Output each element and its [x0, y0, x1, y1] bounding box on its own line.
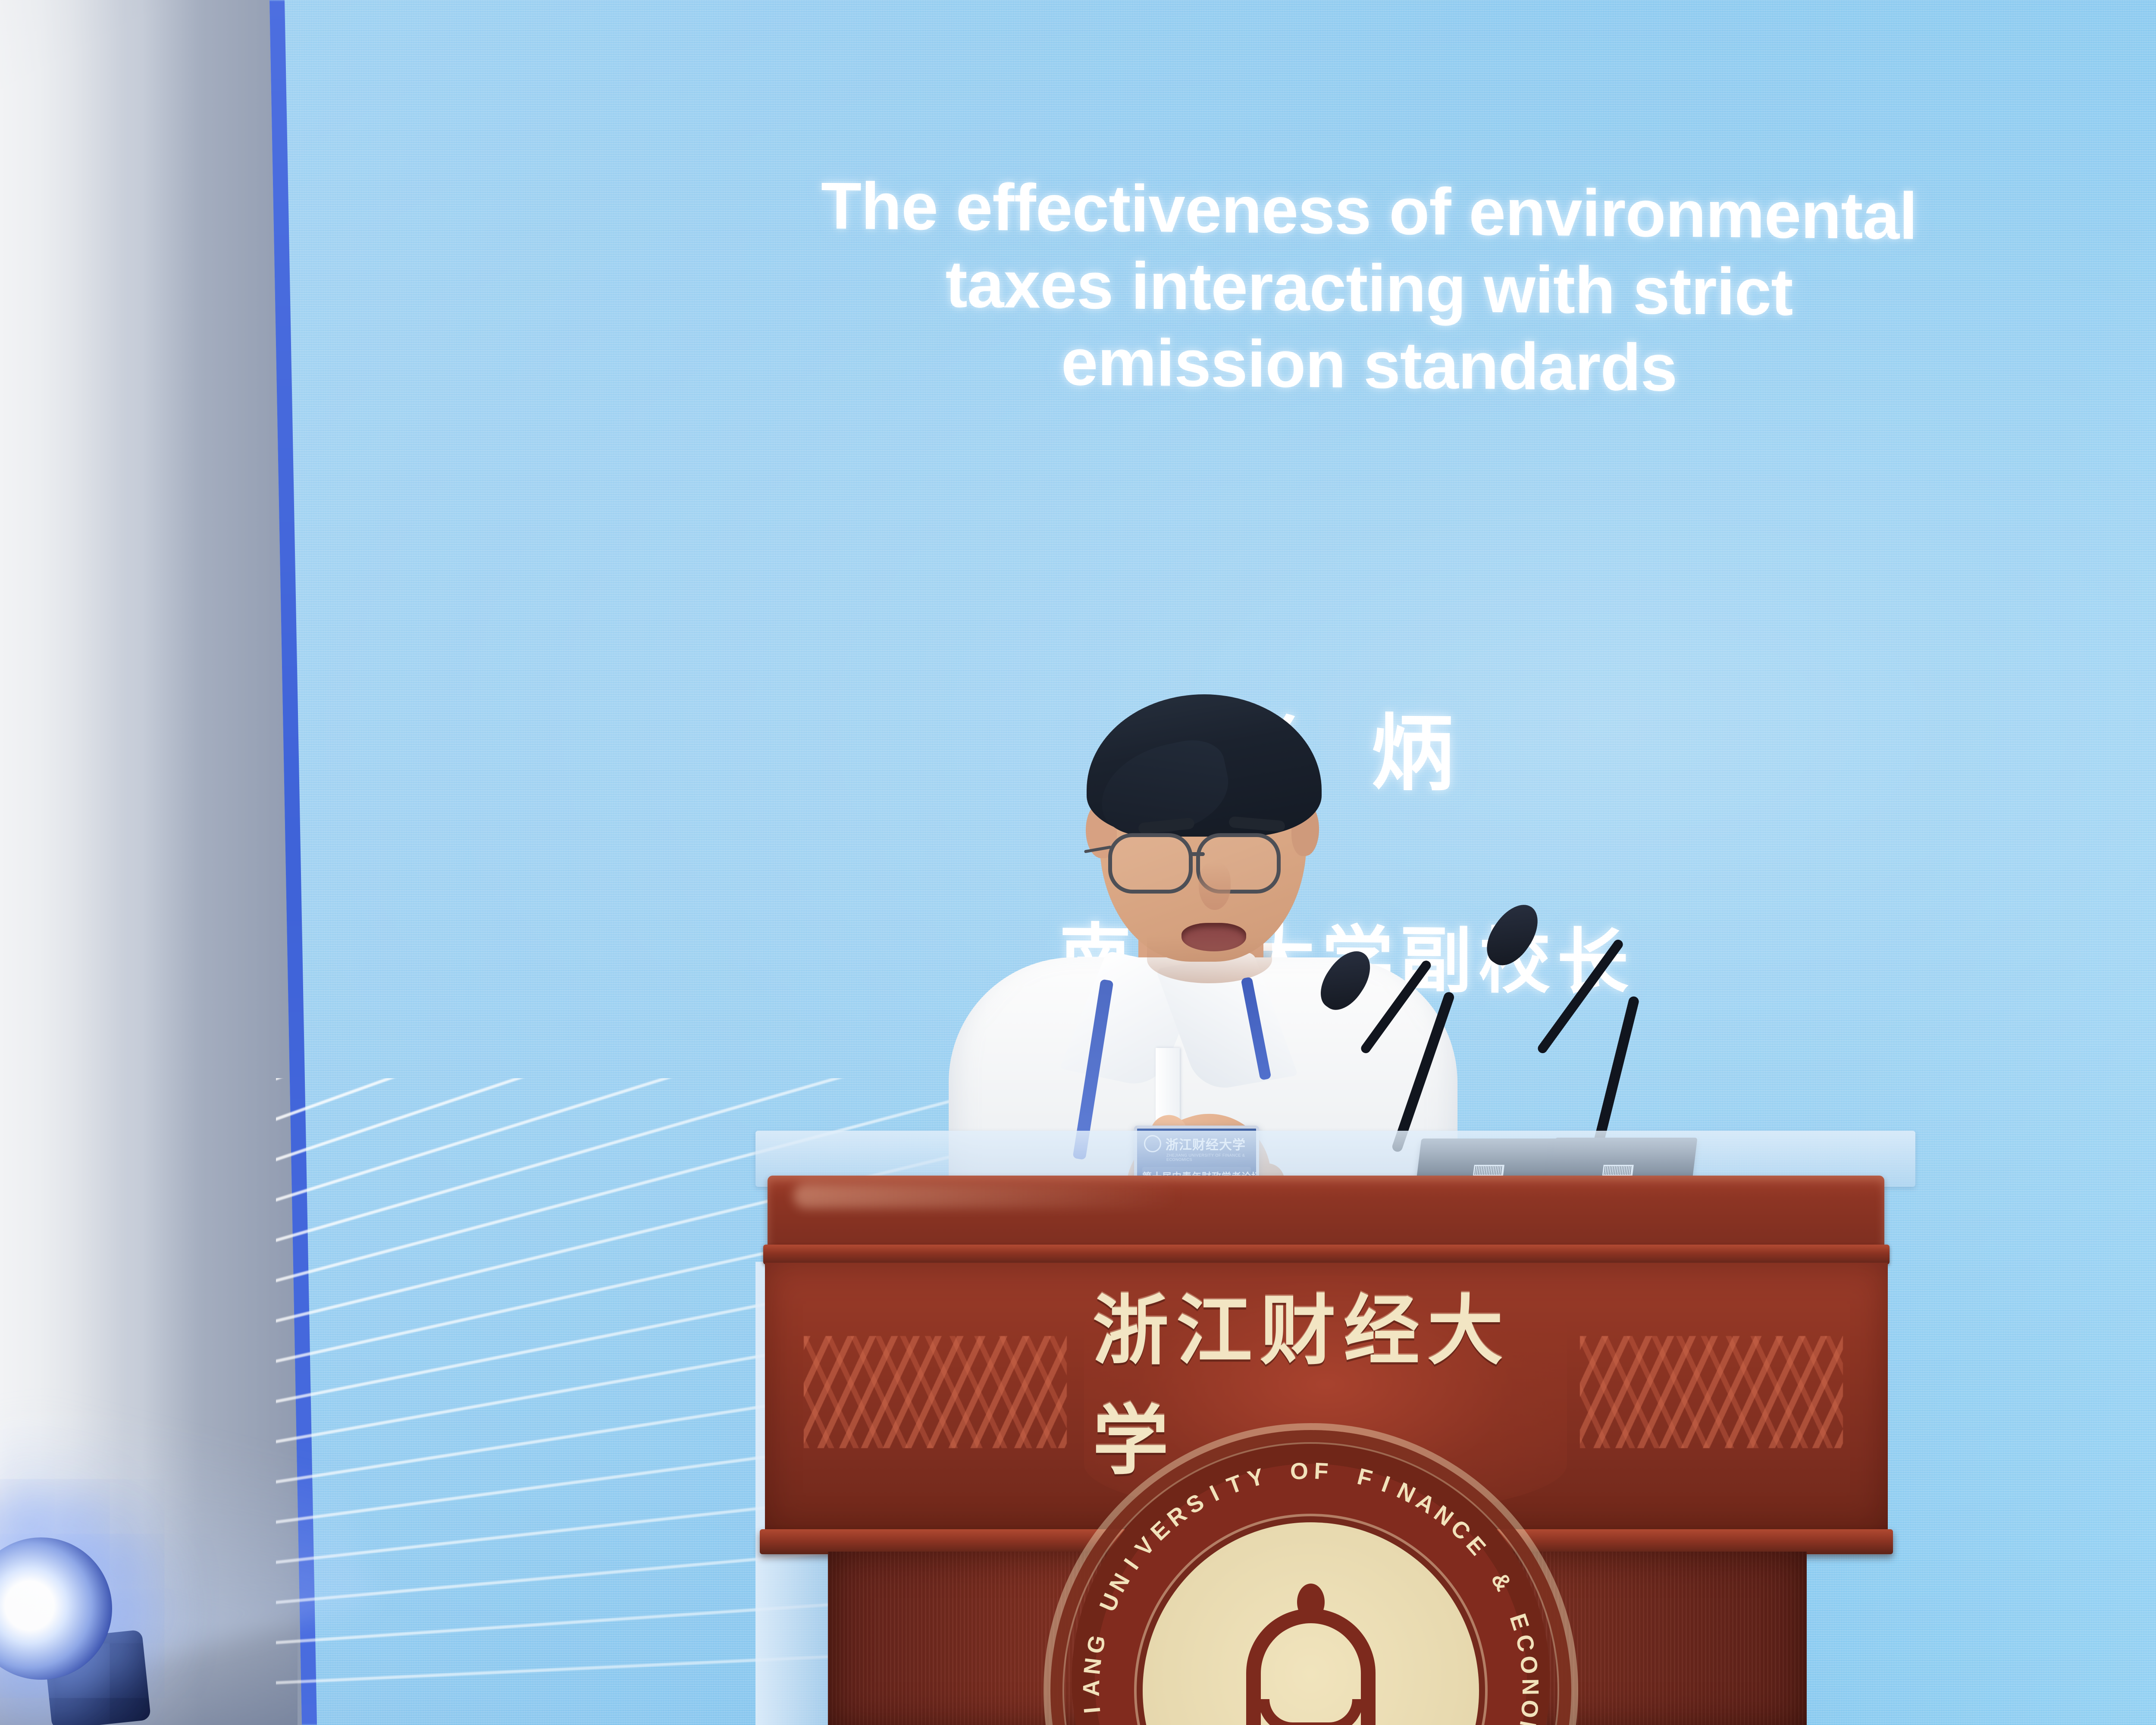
speaker-chin-shadow	[1147, 936, 1272, 983]
podium-top-highlight	[793, 1183, 1181, 1208]
seal-text-char: N	[1078, 1655, 1107, 1676]
conference-stage-photo: The effectiveness of environmental taxes…	[0, 0, 2156, 1725]
seal-text-char: O	[1515, 1699, 1544, 1720]
seal-text-char: T	[1223, 1469, 1247, 1500]
seal-text-char: Y	[1245, 1463, 1268, 1493]
seal-text-char: C	[1510, 1632, 1541, 1656]
seal-text-char: O	[1289, 1458, 1310, 1485]
university-seal: ZHEJIANG UNIVERSITY OF FINANCE & ECONOMI…	[1044, 1423, 1578, 1725]
seal-text-char: F	[1354, 1463, 1376, 1493]
podium-scrollwork-left	[804, 1336, 1067, 1448]
seal-text-char: I	[1119, 1552, 1145, 1574]
seal-text-char: I	[1378, 1471, 1395, 1498]
seal-text-char: E	[1504, 1610, 1535, 1634]
podium-scrollwork-right	[1580, 1336, 1843, 1448]
seal-text-char: N	[1517, 1678, 1544, 1697]
podium-molding-band	[763, 1245, 1890, 1264]
seal-text-char: O	[1514, 1654, 1543, 1677]
seal-text-char: J	[1081, 1722, 1109, 1725]
seal-text-char: I	[1206, 1479, 1224, 1507]
seal-text-char: I	[1078, 1704, 1106, 1714]
glasses-lens-left	[1108, 833, 1193, 894]
seal-circular-text: ZHEJIANG UNIVERSITY OF FINANCE & ECONOMI…	[1044, 1423, 1578, 1725]
seal-text-char: G	[1081, 1631, 1112, 1656]
slide-title: The effectiveness of environmental taxes…	[302, 162, 2156, 414]
glasses-bridge	[1190, 852, 1205, 856]
speaker-nose	[1199, 862, 1231, 910]
seal-text-char: A	[1078, 1678, 1105, 1697]
seal-text-char: F	[1313, 1458, 1330, 1485]
seal-text-char: &	[1485, 1568, 1518, 1596]
